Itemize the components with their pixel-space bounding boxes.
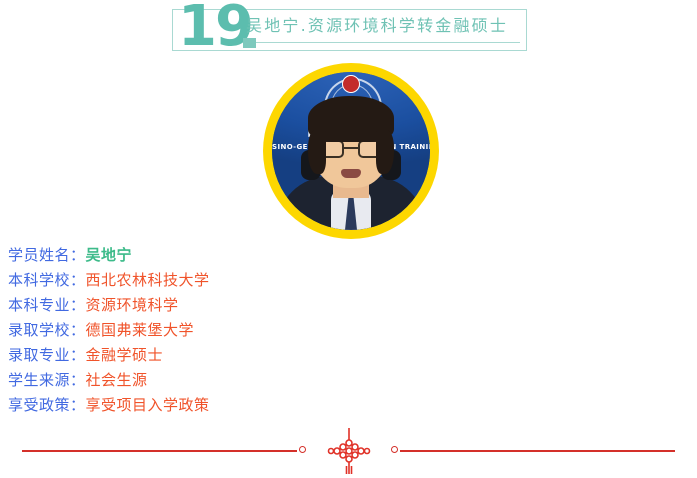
info-row: 录取学校：德国弗莱堡大学 [8,318,338,343]
header-accent-square [243,38,256,48]
section-divider [0,428,697,478]
info-row: 学生来源：社会生源 [8,368,338,393]
divider-line-right [400,450,675,452]
info-row-label: 本科学校： [8,271,86,289]
info-row: 享受政策：享受项目入学政策 [8,393,338,418]
divider-dot-right [391,446,398,453]
info-row: 学员姓名：吴地宁 [8,243,338,268]
info-row-value: 金融学硕士 [86,346,164,364]
divider-dot-left [299,446,306,453]
student-portrait [272,115,430,230]
info-row-label: 录取专业： [8,346,86,364]
header-title: 吴地宁.资源环境科学转金融硕士 [246,14,508,38]
info-row-value: 资源环境科学 [86,296,179,314]
info-row-value: 吴地宁 [86,246,133,264]
info-row-label: 学员姓名： [8,246,86,264]
header-accent-line [256,42,520,43]
glasses-icon [318,140,384,158]
info-row: 本科专业：资源环境科学 [8,293,338,318]
avatar: 中德 项目 SINO-GERMAN COOPERATION TRAINING P… [263,63,439,239]
header-banner: 19 吴地宁.资源环境科学转金融硕士 [0,0,697,62]
avatar-photo: 中德 项目 SINO-GERMAN COOPERATION TRAINING P… [272,72,430,230]
student-info-list: 学员姓名：吴地宁本科学校：西北农林科技大学本科专业：资源环境科学录取学校：德国弗… [8,243,338,418]
info-row-value: 德国弗莱堡大学 [86,321,195,339]
info-row-label: 学生来源： [8,371,86,389]
info-row: 录取专业：金融学硕士 [8,343,338,368]
info-row-label: 享受政策： [8,396,86,414]
info-row-label: 录取学校： [8,321,86,339]
info-row-value: 社会生源 [86,371,148,389]
header-rank-number: 19 [178,0,252,58]
chinese-knot-icon [327,428,371,474]
info-row-value: 享受项目入学政策 [86,396,210,414]
divider-line-left [22,450,297,452]
info-row: 本科学校：西北农林科技大学 [8,268,338,293]
info-row-value: 西北农林科技大学 [86,271,210,289]
info-row-label: 本科专业： [8,296,86,314]
